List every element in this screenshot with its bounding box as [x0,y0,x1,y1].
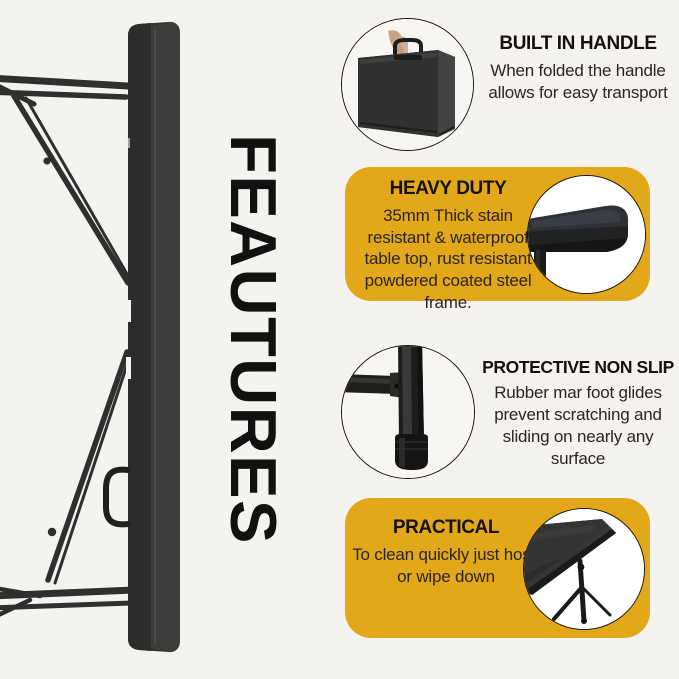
built-in-handle-body: When folded the handle allows for easy t… [482,60,674,104]
heavy-duty-body: 35mm Thick stain resistant & waterproof … [353,205,543,314]
practical-image [523,508,645,630]
table-top-edge [126,22,180,652]
rubber-foot-leg-closeup-icon [342,346,474,478]
built-in-handle-text: BUILT IN HANDLE When folded the handle a… [482,34,674,103]
folded-table-carried-by-handle-icon [342,19,473,150]
page-title-text: FEAUTURES [221,134,286,545]
heavy-duty-text: HEAVY DUTY 35mm Thick stain resistant & … [353,179,543,314]
practical-heading: PRACTICAL [351,518,541,539]
protective-non-slip-heading: PROTECTIVE NON SLIP [480,358,676,377]
heavy-duty-image [527,175,646,294]
folded-table-illustration [0,0,200,679]
feature-panel-practical: PRACTICAL To clean quickly just hose or … [345,498,650,638]
feature-panel-heavy-duty: HEAVY DUTY 35mm Thick stain resistant & … [345,167,650,301]
built-in-handle-heading: BUILT IN HANDLE [482,34,674,55]
built-in-handle-image [341,18,474,151]
product-photo [0,0,200,679]
protective-non-slip-text: PROTECTIVE NON SLIP Rubber mar foot glid… [480,358,676,469]
page-title: FEAUTURES [188,0,318,679]
heavy-duty-heading: HEAVY DUTY [353,179,543,200]
feature-panel-built-in-handle: BUILT IN HANDLE When folded the handle a… [332,8,679,166]
table-top-corner-closeup-icon [528,176,645,293]
table-top-underside-closeup-icon [524,509,644,629]
practical-text: PRACTICAL To clean quickly just hose or … [351,518,541,587]
infographic-canvas: FEAUTURES [0,0,679,679]
feature-panel-protective-non-slip: PROTECTIVE NON SLIP Rubber mar foot glid… [332,335,679,495]
protective-non-slip-body: Rubber mar foot glides prevent scratchin… [480,382,676,469]
protective-non-slip-image [341,345,475,479]
practical-body: To clean quickly just hose or wipe down [351,544,541,588]
